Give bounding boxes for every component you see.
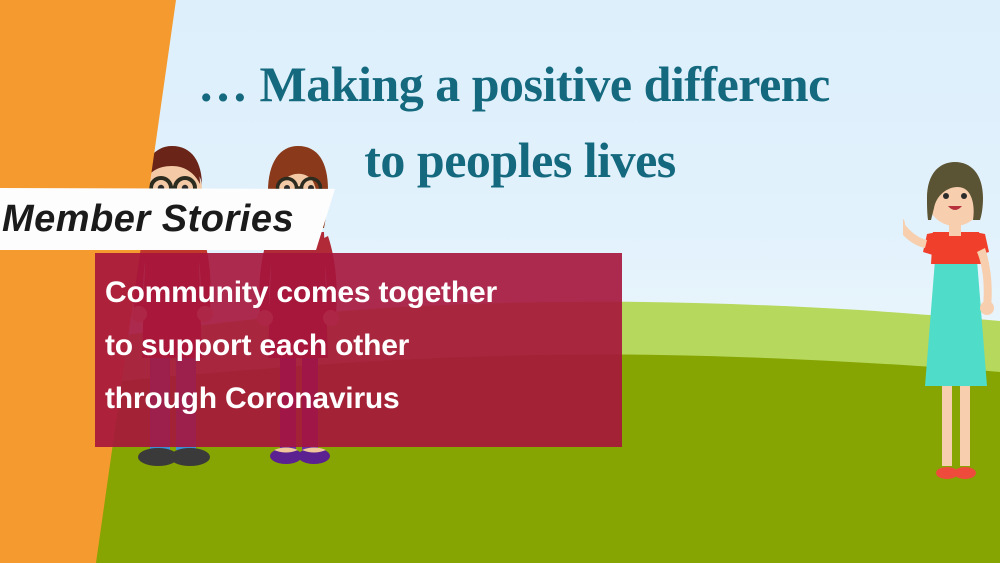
member-stories-label: Member Stories [2, 192, 332, 246]
banner-image: … Making a positive differenc to peoples… [0, 0, 1000, 563]
headline-text: Community comes together to support each… [105, 266, 605, 425]
headline-line-1: Community comes together [105, 266, 605, 319]
headline-line-3: through Coronavirus [105, 372, 605, 425]
headline-line-2: to support each other [105, 319, 605, 372]
